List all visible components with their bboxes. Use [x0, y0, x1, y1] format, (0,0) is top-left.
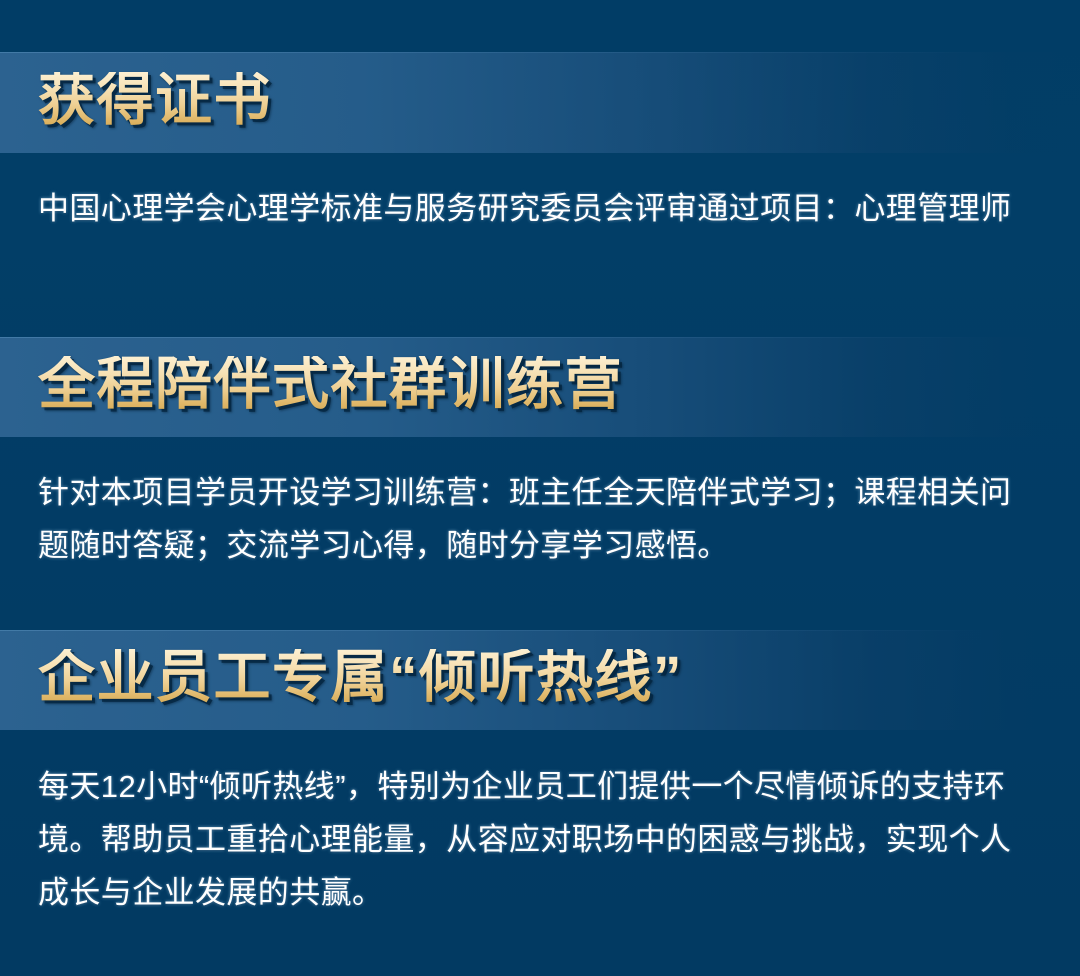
section-certificate: 获得证书 中国心理学会心理学标准与服务研究委员会评审通过项目：心理管理师: [0, 0, 1080, 320]
section-heading-community-camp: 全程陪伴式社群训练营: [0, 356, 623, 413]
promo-poster: 获得证书 中国心理学会心理学标准与服务研究委员会评审通过项目：心理管理师 全程陪…: [0, 0, 1080, 976]
section-heading-listening-hotline: 企业员工专属“倾听热线”: [0, 649, 683, 706]
section-body-listening-hotline: 每天12小时“倾听热线”，特别为企业员工们提供一个尽情倾诉的支持环境。帮助员工重…: [0, 760, 1080, 919]
section-heading-certificate: 获得证书: [0, 72, 272, 129]
section-body-community-camp: 针对本项目学员开设学习训练营：班主任全天陪伴式学习；课程相关问题随时答疑；交流学…: [0, 466, 1080, 572]
section-community-camp: 全程陪伴式社群训练营 针对本项目学员开设学习训练营：班主任全天陪伴式学习；课程相…: [0, 320, 1080, 630]
section-body-certificate: 中国心理学会心理学标准与服务研究委员会评审通过项目：心理管理师: [0, 182, 1080, 235]
section-listening-hotline: 企业员工专属“倾听热线” 每天12小时“倾听热线”，特别为企业员工们提供一个尽情…: [0, 630, 1080, 976]
